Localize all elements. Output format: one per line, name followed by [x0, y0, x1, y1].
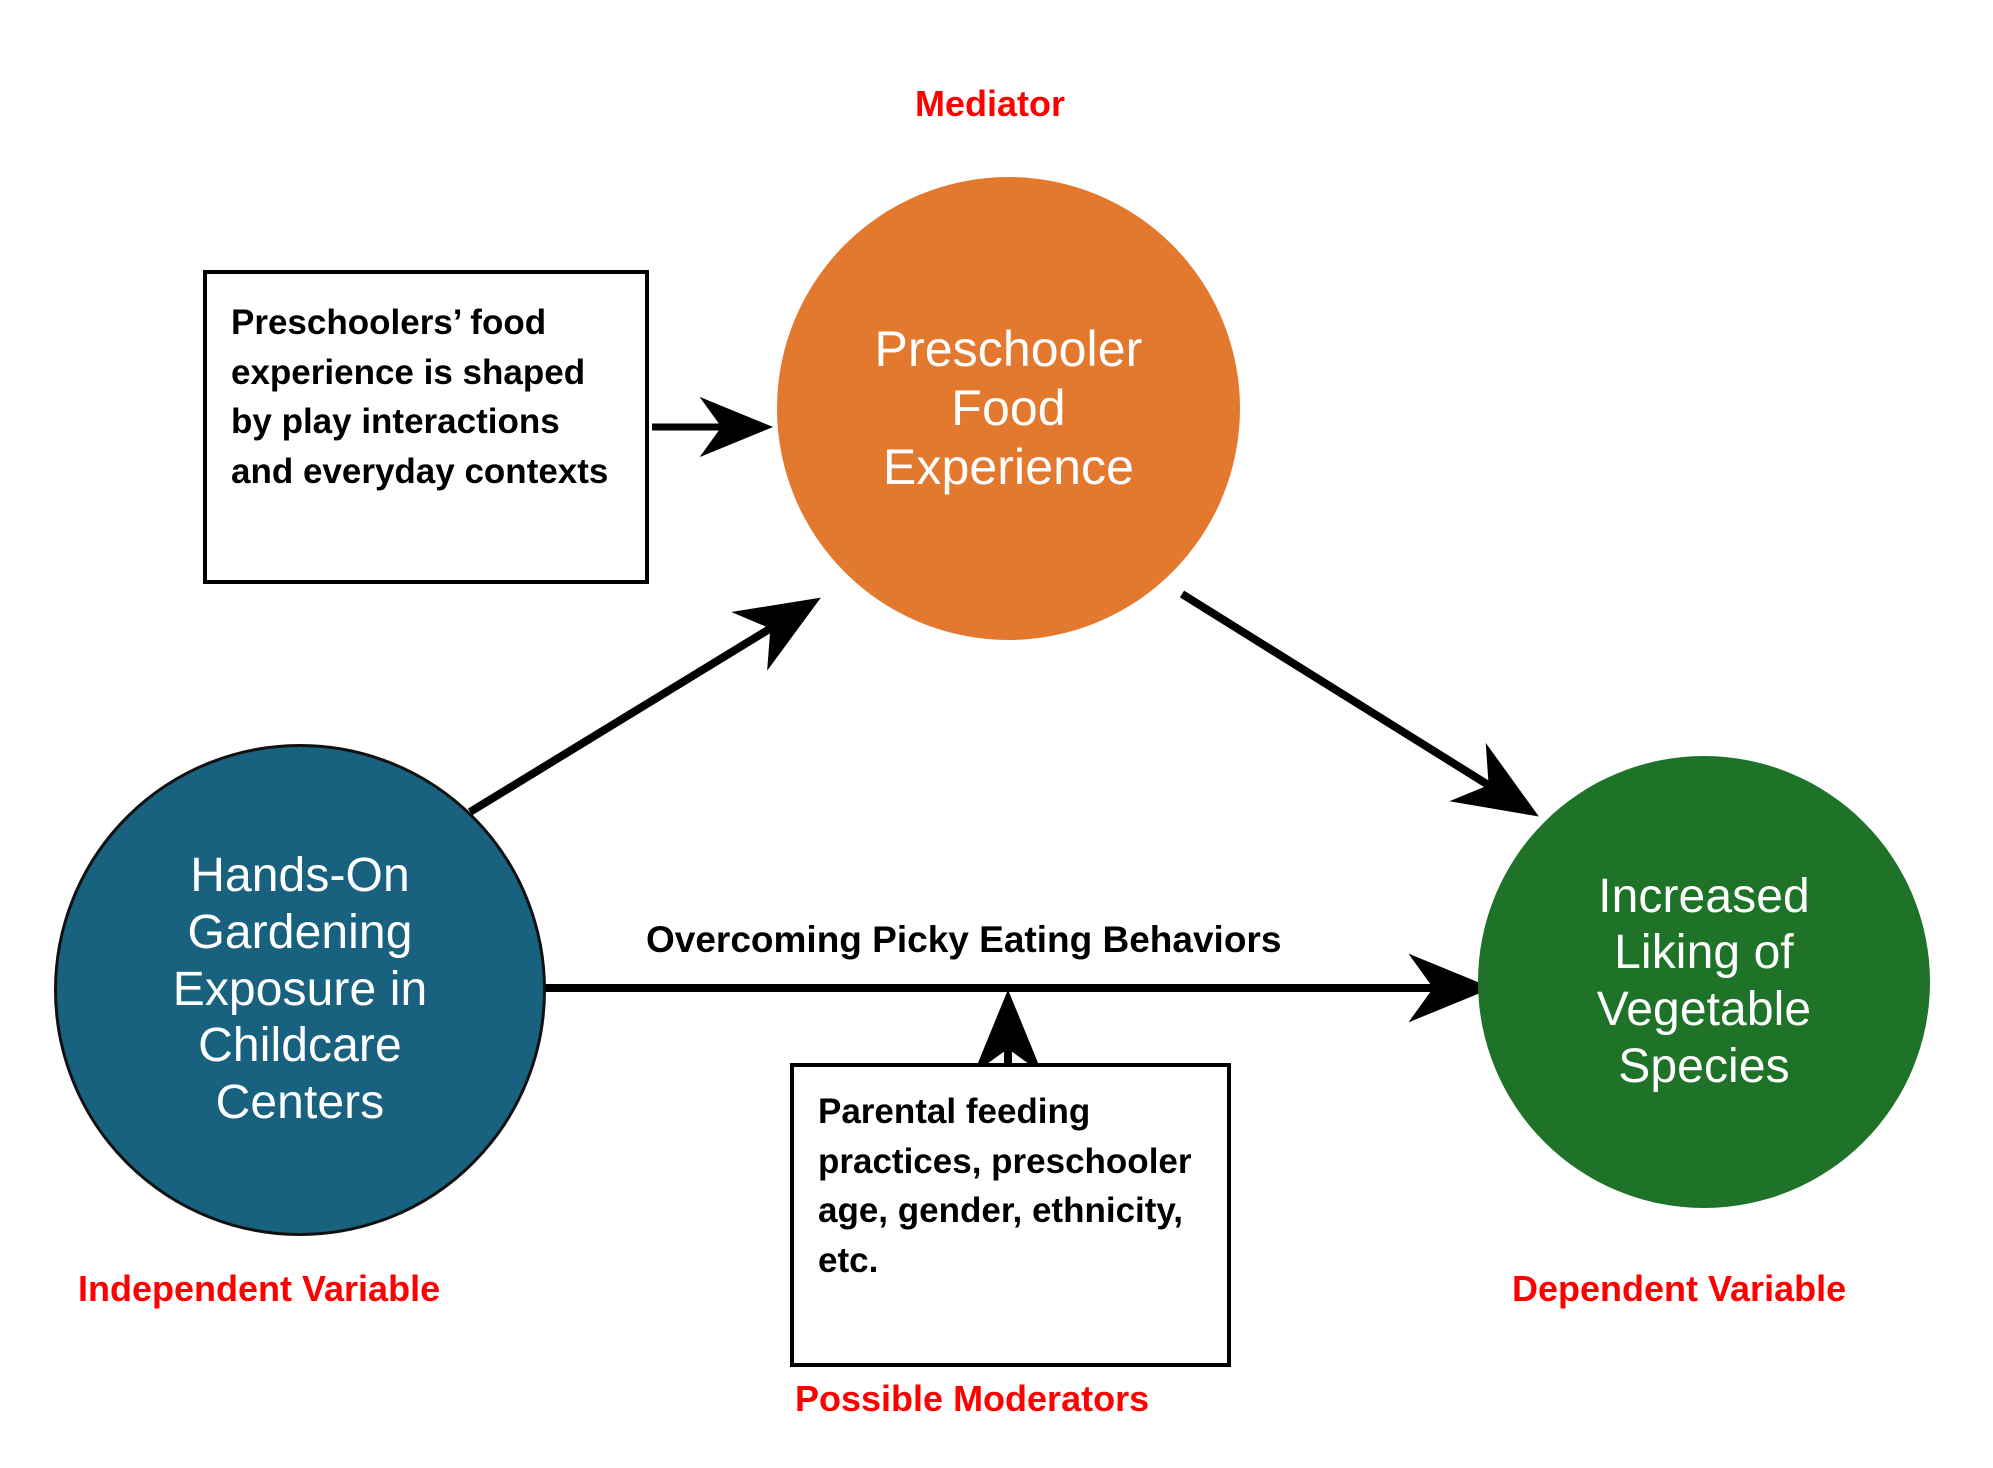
node-dependent-increased-liking-of-vegetable-species[interactable]: Increased Liking of Vegetable Species — [1478, 756, 1930, 1208]
arrow-independent-to-mediator — [470, 603, 812, 812]
note-box-possible-moderators[interactable]: Parental feeding practices, preschooler … — [790, 1063, 1231, 1367]
node-dependent-label: Increased Liking of Vegetable Species — [1496, 869, 1912, 1096]
note-box-food-experience-text: Preschoolers’ food experience is shaped … — [231, 298, 623, 497]
note-box-food-experience[interactable]: Preschoolers’ food experience is shaped … — [203, 270, 649, 584]
caption-dependent-variable: Dependent Variable — [1512, 1268, 1846, 1310]
node-independent-label: Hands-On Gardening Exposure in Childcare… — [76, 848, 523, 1131]
node-independent-hands-on-gardening-exposure[interactable]: Hands-On Gardening Exposure in Childcare… — [54, 744, 546, 1236]
node-mediator-preschooler-food-experience[interactable]: Preschooler Food Experience — [777, 177, 1240, 640]
node-mediator-label: Preschooler Food Experience — [796, 320, 1222, 497]
caption-independent-variable: Independent Variable — [78, 1268, 440, 1310]
caption-mediator: Mediator — [915, 83, 1065, 125]
note-box-possible-moderators-text: Parental feeding practices, preschooler … — [818, 1087, 1209, 1286]
caption-possible-moderators: Possible Moderators — [795, 1378, 1149, 1420]
arrow-mediator-to-dependent — [1182, 594, 1530, 811]
path-label-overcoming-picky-eating-behaviors: Overcoming Picky Eating Behaviors — [646, 919, 1281, 961]
conceptual-model-diagram: Mediator Independent Variable Dependent … — [0, 0, 1993, 1468]
